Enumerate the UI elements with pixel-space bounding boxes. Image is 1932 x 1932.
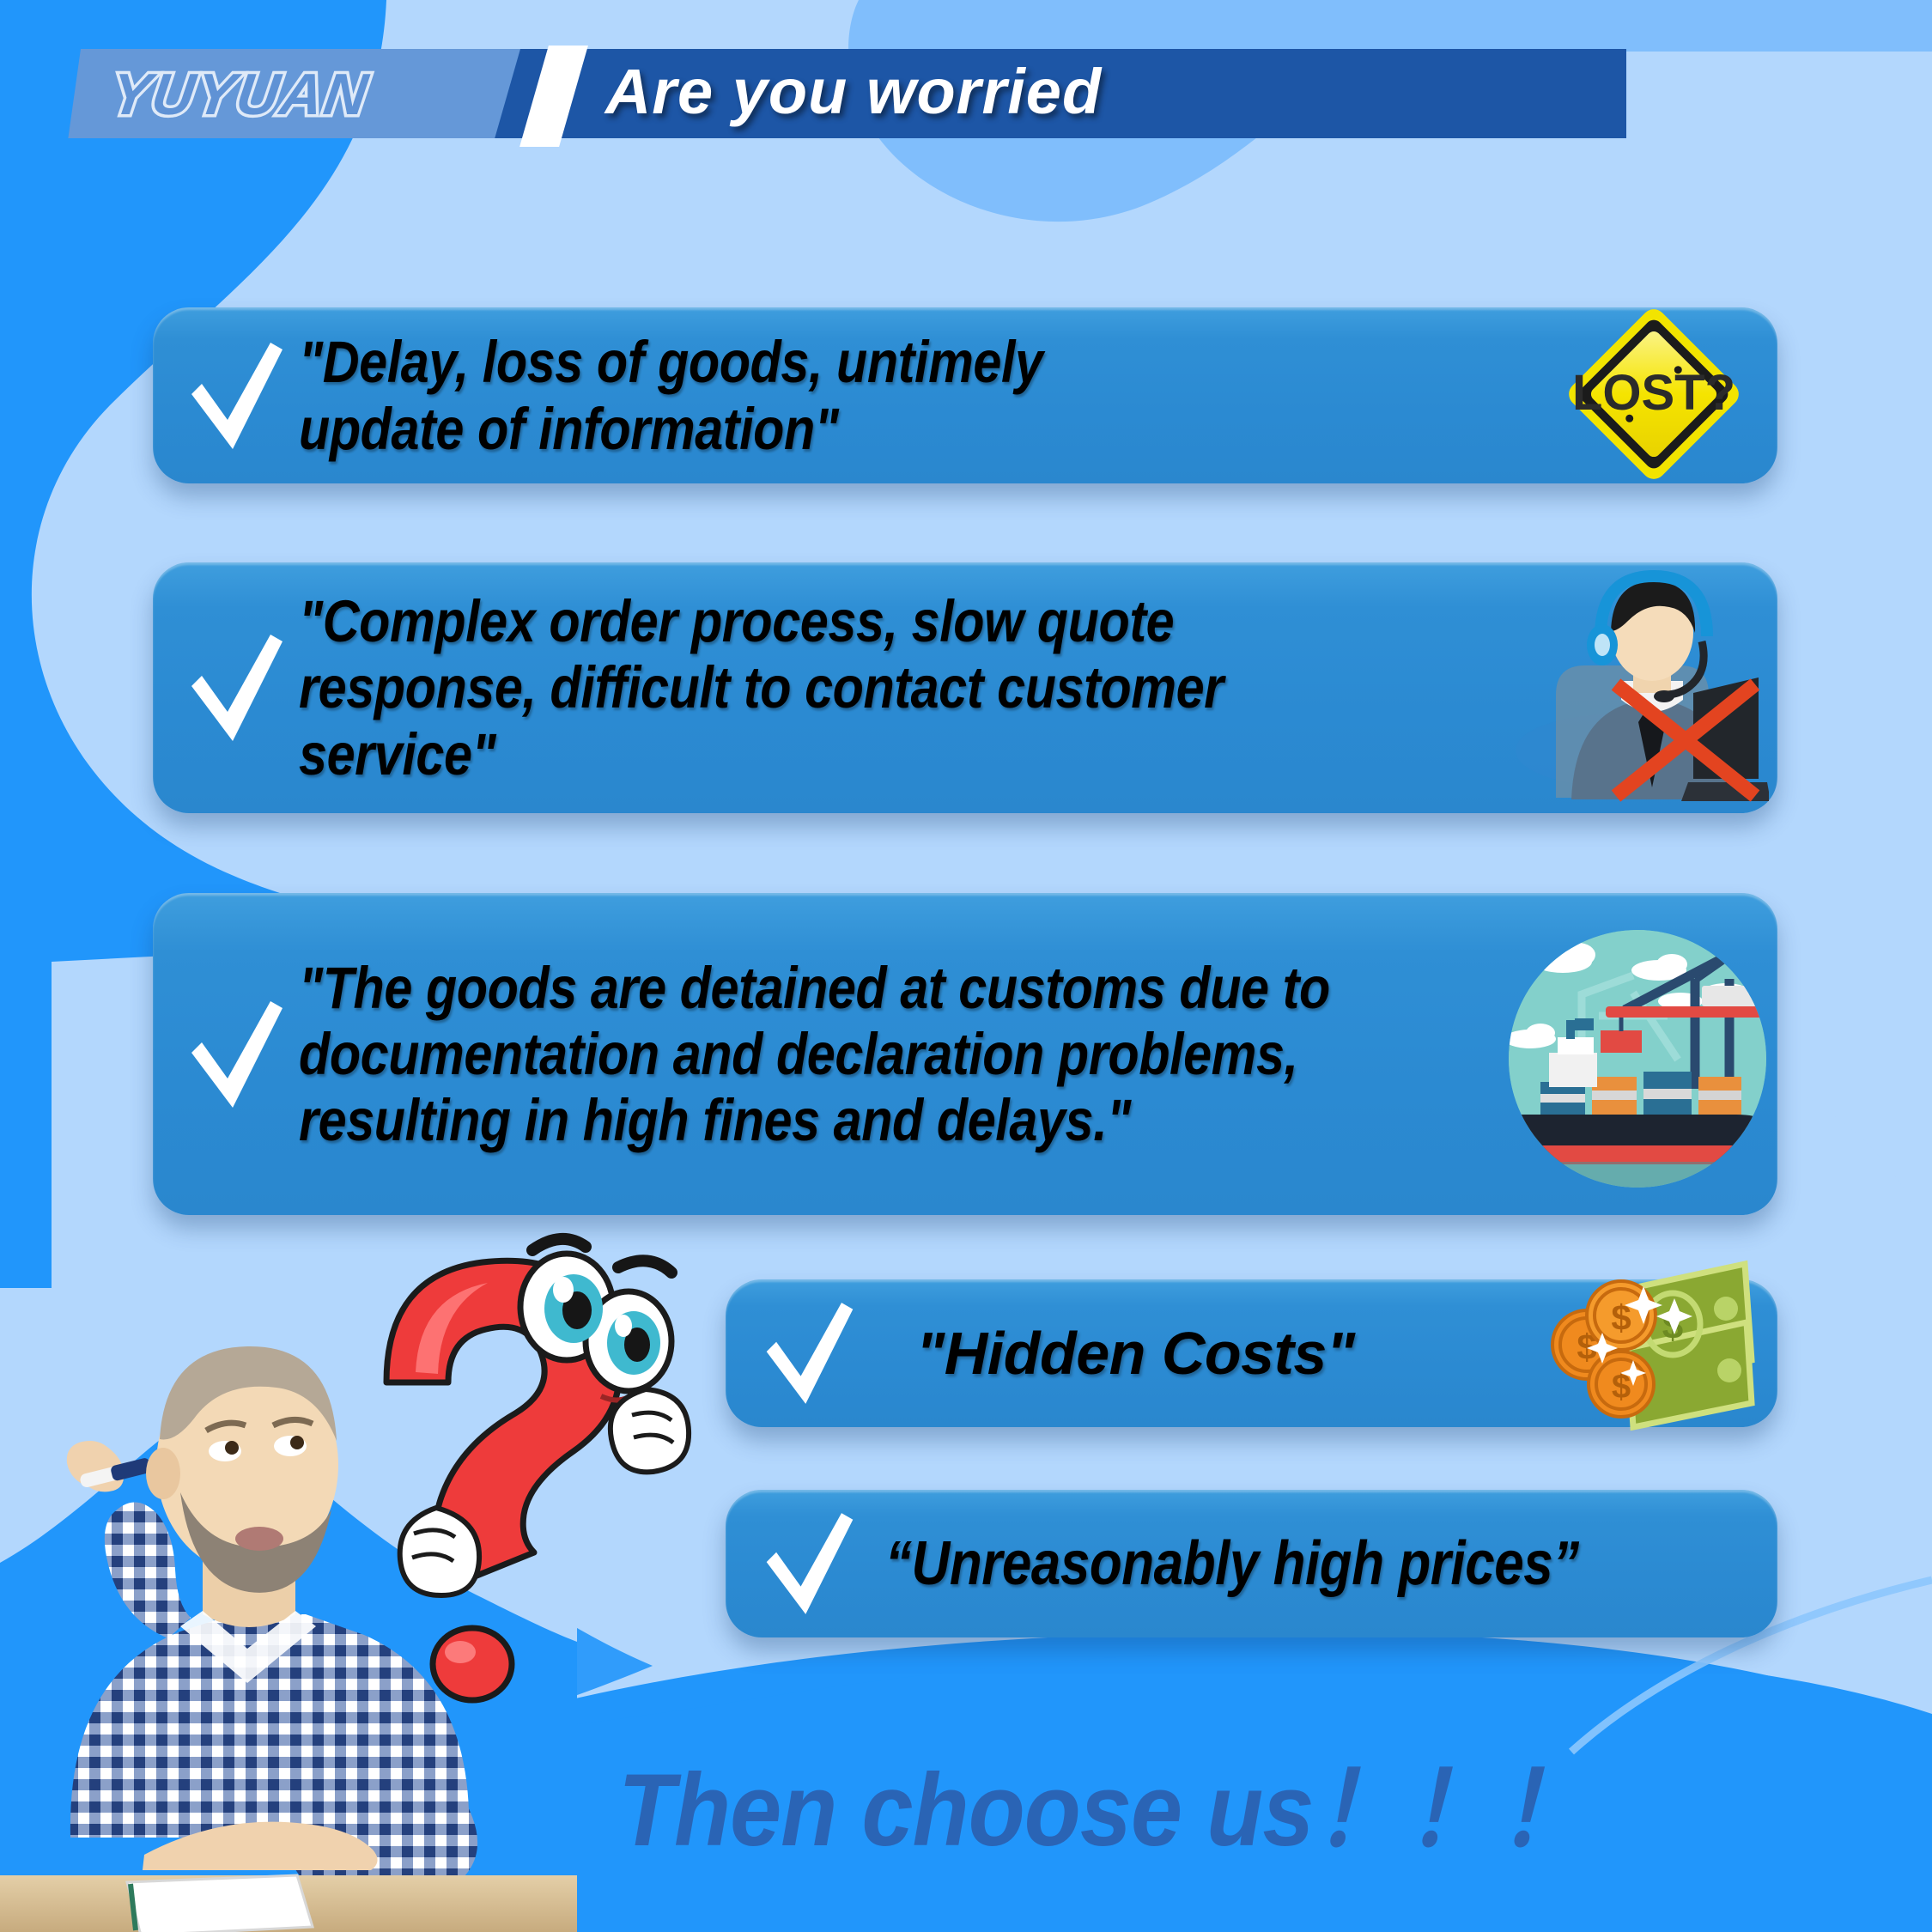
lost-sign-label: LOST? [1572,365,1735,421]
card-text: "Complex order process, slow quote respo… [299,588,1259,787]
card-delay-loss[interactable]: "Delay, loss of goods, untimely update o… [153,307,1777,483]
question-mark-mascot [326,1228,713,1709]
container-ship-port-icon [1496,900,1779,1209]
check-icon [182,999,292,1109]
card-text: "The goods are detained at customs due t… [299,955,1333,1154]
lost-sign-icon: LOST? [1559,304,1748,484]
card-text: "Hidden Costs" [916,1320,1355,1387]
check-icon [755,1511,865,1616]
tagline: Then choose us！！！ [618,1726,1700,1875]
customer-service-blocked-icon [1511,566,1769,810]
card-text: “Unreasonably high prices” [885,1529,1579,1599]
page-title: Are you worried [81,49,1626,138]
card-hidden-costs[interactable]: "Hidden Costs" $ $ $ $ [726,1279,1777,1427]
header-banner: YUYUAN Are you worried [81,49,1626,138]
card-complex-order[interactable]: "Complex order process, slow quote respo… [153,562,1777,813]
check-icon [182,633,292,743]
card-text: "Delay, loss of goods, untimely update o… [299,329,1207,462]
check-icon [755,1301,865,1406]
check-icon [182,341,292,451]
card-high-prices[interactable]: “Unreasonably high prices” [726,1490,1777,1637]
money-coins-icon: $ $ $ $ [1542,1259,1757,1439]
svg-text:$: $ [1611,1297,1631,1338]
card-customs-detained[interactable]: "The goods are detained at customs due t… [153,893,1777,1215]
